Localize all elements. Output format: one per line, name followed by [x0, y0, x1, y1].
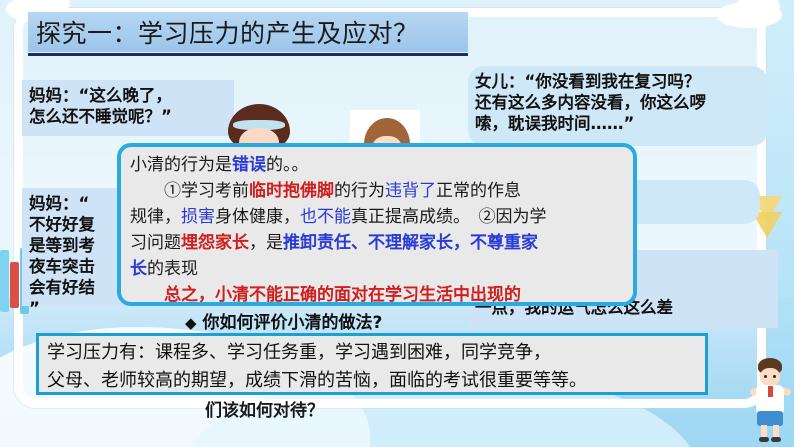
answer-line-6: 总之，小清不能正确的面对在学习生活中出现的: [130, 282, 624, 306]
answer-line-5: 长的表现: [130, 256, 624, 282]
answer-l4-b: ，是: [249, 233, 283, 253]
answer-l3-highlight-1: 损害: [181, 207, 215, 227]
page-title-text: 探究一：学习压力的产生及应对？: [36, 14, 419, 50]
answer-l2-c: 正常的作息: [436, 181, 521, 201]
answer-l3-highlight-2: 也不能: [300, 207, 351, 227]
answer-l4-highlight-red: 埋怨家长: [181, 233, 249, 253]
boy-eye-right: [773, 375, 776, 378]
decor-stripe-red: [10, 262, 19, 308]
decor-stripe-blue-1: [0, 250, 9, 312]
answer-l1-highlight: 错误: [232, 155, 266, 175]
answer-l4-highlight-blue: 推卸责任、不理解家长，不尊重家: [283, 233, 538, 253]
diamond-bullet-icon: ◆: [185, 314, 197, 332]
answer-l3-c: 真正提高成绩。 ②因为学: [351, 207, 547, 227]
summary-answer-box: 学习压力有：课程多、学习任务重，学习遇到困难，同学竞争， 父母、老师较高的期望，…: [36, 333, 708, 395]
answer-l5-plain: 的表现: [147, 259, 198, 279]
answer-l5-highlight: 长: [130, 259, 147, 279]
answer-l3-a: 规律，: [130, 207, 181, 227]
question-prompt: ◆ 你如何评价小清的做法?: [185, 308, 382, 333]
answer-l4-a: 习问题: [130, 233, 181, 253]
answer-l2-a: ①学习考前: [164, 181, 249, 201]
question-prompt-text: 你如何评价小清的做法?: [197, 313, 383, 333]
boy-face: [760, 368, 780, 386]
boy-shoe-right: [771, 437, 781, 442]
answer-line-2: ①学习考前临时抱佛脚的行为违背了正常的作息: [130, 178, 624, 204]
bottom-partial-text: 们该如何对待？: [205, 396, 324, 421]
cartoon-boy-character: [750, 358, 790, 444]
boy-shoe-left: [759, 437, 769, 442]
answer-l2-highlight-blue: 违背了: [385, 181, 436, 201]
answer-line-1: 小清的行为是错误的。。: [130, 152, 624, 178]
dialogue-bubble-mom-first: 妈妈：“这么晚了， 怎么还不睡觉呢？”: [22, 80, 234, 136]
dialogue-bubble-daughter-first: 女儿：“你没看到我在复习吗？ 还有这么多内容没看，你这么啰 嗦，耽误我时间……”: [468, 66, 768, 146]
answer-l3-b: 身体健康，: [215, 207, 300, 227]
boy-shorts: [757, 411, 783, 426]
answer-overlay-box: 小清的行为是错误的。。 ①学习考前临时抱佛脚的行为违背了正常的作息 规律，损害身…: [117, 143, 637, 306]
slide-canvas: 探究一：学习压力的产生及应对？ 妈妈：“这么晚了， 怎么还不睡觉呢？” 妈妈：“…: [0, 0, 794, 447]
answer-l1-b: 的。。: [266, 155, 309, 175]
boy-eye-left: [764, 375, 767, 378]
boy-tie: [768, 386, 773, 397]
answer-l2-b: 的行为: [334, 181, 385, 201]
answer-line-3: 规律，损害身体健康，也不能真正提高成绩。 ②因为学: [130, 204, 624, 230]
page-title: 探究一：学习压力的产生及应对？: [28, 12, 468, 52]
answer-l6-conclusion: 总之，小清不能正确的面对在学习生活中出现的: [164, 285, 521, 305]
title-underline: [28, 53, 468, 56]
answer-line-4: 习问题埋怨家长，是推卸责任、不理解家长，不尊重家: [130, 230, 624, 256]
answer-l1-a: 小清的行为是: [130, 155, 232, 175]
answer-l2-highlight-red: 临时抱佛脚: [249, 181, 334, 201]
